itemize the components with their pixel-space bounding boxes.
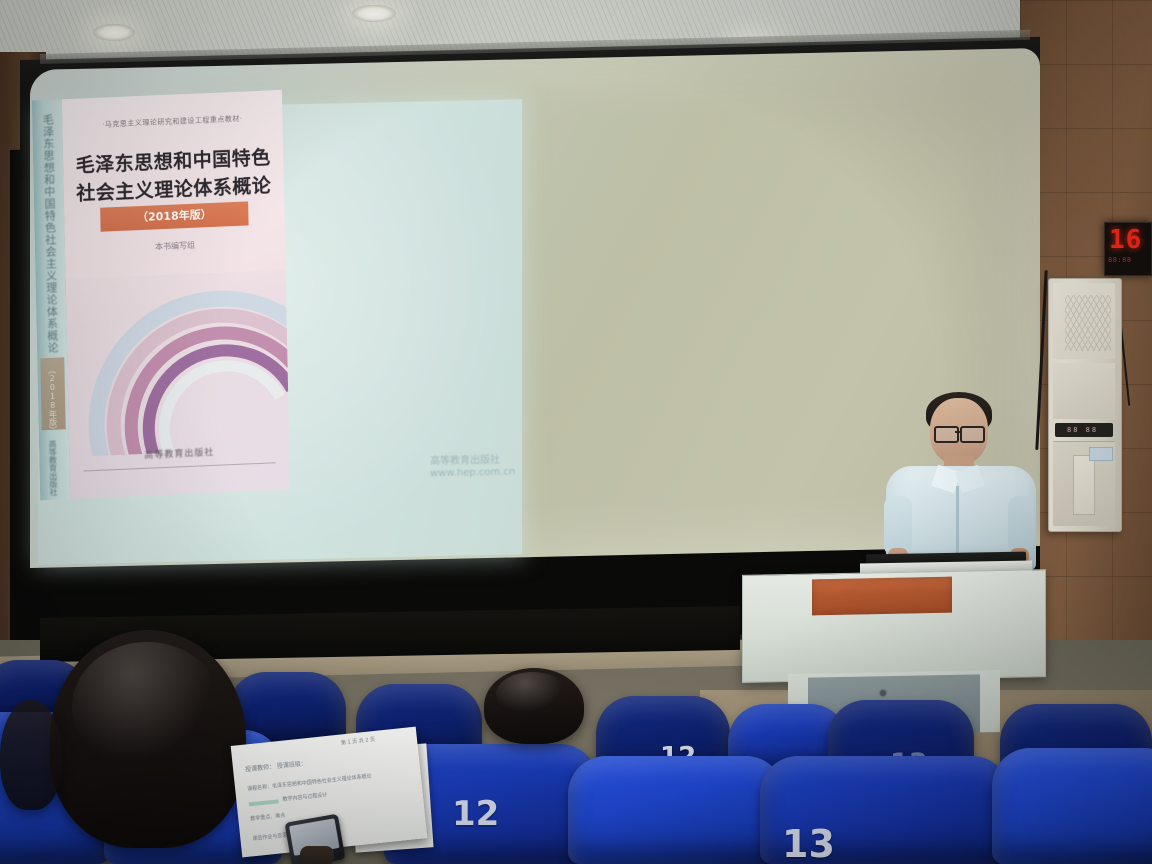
podium-wood-accent: [812, 577, 952, 616]
audience-hand: [300, 846, 334, 864]
ac-mid-panel: [1053, 363, 1115, 419]
ac-label-sticker: [1089, 447, 1113, 461]
paper-line: 授课教师： 授课班级：: [245, 760, 307, 773]
glasses-icon: [934, 426, 959, 443]
podium-cabinet-knob[interactable]: [880, 690, 886, 696]
ac-vent-icon: [1073, 455, 1095, 515]
speaker-arm-right: [1008, 496, 1034, 554]
glasses-icon: [960, 426, 985, 443]
paper-line: 课后作业与反思: [252, 833, 288, 844]
paper-line: 教学内容与过程设计: [282, 792, 328, 804]
list-item[interactable]: [568, 756, 784, 864]
seat-number: 12: [452, 794, 499, 834]
ac-display-digits: 88 88: [1067, 426, 1098, 434]
watermark-line-2: www.hep.com.cn: [430, 466, 540, 480]
slide-watermark: 高等教育出版社 www.hep.com.cn: [430, 454, 540, 480]
list-item[interactable]: [992, 748, 1152, 864]
clock-secondary-digits: 88:88: [1108, 256, 1132, 264]
audience-head-sheen: [72, 642, 222, 772]
clock-digits: 16: [1109, 227, 1142, 253]
lecture-hall-photo: 学情分析 学情分析 课程定位 课程特点 毛泽东思想和中国特色社会主义理论体系概论…: [0, 0, 1152, 864]
book-spine-edition-block: （2018年版）: [40, 357, 66, 430]
cover-arc-artwork: [62, 267, 290, 457]
audience-head-sheen: [496, 672, 568, 716]
book-spine-title: 毛泽东思想和中国特色社会主义理论体系概论: [39, 114, 60, 365]
glasses-bridge: [955, 431, 960, 433]
paper-line: 课程名称：毛泽东思想和中国特色社会主义理论体系概论: [247, 773, 372, 793]
seat-number: 13: [782, 822, 835, 864]
downlight-icon: [93, 24, 135, 41]
led-wall-clock: 16 88:88: [1104, 222, 1152, 276]
book-spine-publisher: 高等教育出版社: [47, 440, 59, 496]
ac-grille-icon: [1065, 295, 1111, 351]
paper-line: 教学重点、难点: [250, 813, 286, 824]
cover-rule: [84, 462, 276, 471]
speaker-arm-left: [884, 496, 912, 556]
downlight-icon: [352, 5, 396, 22]
air-conditioner: 88 88: [1048, 278, 1122, 532]
ac-display-panel: 88 88: [1055, 423, 1113, 437]
book-front-cover: ·马克思主义理论研究和建设工程重点教材· 毛泽东思想和中国特色 社会主义理论体系…: [62, 90, 290, 499]
book-spine-edition: （2018年版）: [46, 366, 58, 434]
paper-corner-note: 第 1 页 共 2 页: [341, 737, 376, 748]
textbook-image: 毛泽东思想和中国特色社会主义理论体系概论 （2018年版） 高等教育出版社 ·马…: [32, 90, 290, 500]
ac-upper-panel: [1053, 283, 1115, 359]
paper-highlight: [249, 799, 279, 806]
audience-head: [0, 700, 62, 810]
